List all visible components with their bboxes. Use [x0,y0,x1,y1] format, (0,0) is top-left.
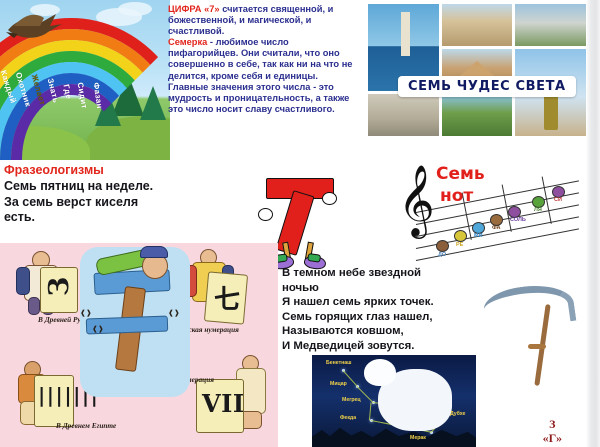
rainbow-illustration: Каждый Охотник Желает Знать Где Сидит Фа… [0,0,170,160]
star-label-1: Мицар [330,381,347,387]
phraseology-line-2: есть. [4,210,254,226]
note-1 [454,230,467,242]
signature-line-1: З [543,418,562,431]
poem-line-1: ночью [282,281,492,296]
note-label-4: СОЛЬ [510,217,526,223]
numeration-systems-panel: З В Древней Руси ||||||| В Древнем Египт… [0,243,278,447]
bird-icon: ❰❱ [168,309,180,317]
note-label-5: ЛЯ [534,207,542,213]
poem-line-2: Я нашел семь ярких точек. [282,295,492,310]
note-label-3: ФА [492,225,501,231]
slide-canvas: Каждый Охотник Желает Знать Где Сидит Фа… [0,0,600,447]
poem-block: В темном небе звездной ночью Я нашел сем… [282,266,492,354]
seven-wonders-collage: СЕМЬ ЧУДЕС СВЕТА [368,4,586,136]
main-rest-2: - любимое число пифагорийцев. Они считал… [168,37,352,114]
bird-icon: ❰❱ [92,325,104,333]
star-label-0: Бенетнаш [326,360,351,366]
bird-icon: ❰❱ [80,309,92,317]
star-label-3: Фекда [340,415,356,421]
poem-line-3: Семь горящих глаз нашел, [282,310,492,325]
note-0 [436,240,449,252]
note-label-6: СИ [554,197,562,203]
phraseology-block: Фразеологизмы Семь пятниц на неделе. За … [4,163,254,226]
polar-bear-head [364,359,396,386]
music-heading-line-2: нот [440,186,473,206]
music-heading-line-1: Семь [436,164,485,184]
treble-clef-icon: 𝄞 [398,172,435,228]
glove-icon [258,208,273,221]
seven-notes-illustration: 𝄞 Семь нот ДО РЕ МИ ФА СОЛЬ ЛЯ СИ [392,162,588,267]
main-paragraph-1: ЦИФРА «7» считается священной, и божеств… [168,4,353,37]
star-label-4: Мерак [410,435,426,441]
seven-wonders-label: СЕМЬ ЧУДЕС СВЕТА [398,76,576,97]
caption-egypt: В Древнем Египте [56,421,116,430]
signature-line-2: «Г» [543,431,562,445]
big-dipper-photo: Бенетнаш Мицар Мегрец Фекда Мерак Дубхе [312,355,476,447]
signature-block: З «Г» [543,418,562,445]
wonder-mausoleum [368,94,439,136]
wonder-gardens [442,94,513,136]
big-seven-scarecrow [80,247,190,397]
note-label-2: МИ [474,233,483,239]
main-description-text: ЦИФРА «7» считается священной, и божеств… [168,4,353,115]
main-lead-2: Семерка [168,37,207,47]
scythe-icon [478,270,588,395]
phraseology-line-1: За семь верст киселя [4,195,254,211]
phraseology-title: Фразеологизмы [4,163,254,177]
star-label-5: Дубхе [450,411,465,417]
poem-line-0: В темном небе звездной [282,266,492,281]
glyph-china: 七 [214,279,240,316]
main-paragraph-2: Семерка - любимое число пифагорийцев. Он… [168,37,353,115]
wonder-babylon [442,4,513,46]
glove-icon [322,192,337,205]
phraseology-line-0: Семь пятниц на неделе. [4,179,254,195]
eagle-icon [4,4,70,48]
note-label-0: ДО [438,252,446,258]
glyph-rome: VII [202,389,245,418]
glyph-old-russian: З [44,277,75,296]
star-label-2: Мегрец [342,397,361,403]
right-edge-band [586,0,600,447]
main-lead-1: ЦИФРА «7» [168,4,220,14]
poem-line-5: И Медведицей зовутся. [282,339,492,354]
poem-line-4: Называются ковшом, [282,324,492,339]
note-label-1: РЕ [456,242,463,248]
wonder-temple [515,4,586,46]
